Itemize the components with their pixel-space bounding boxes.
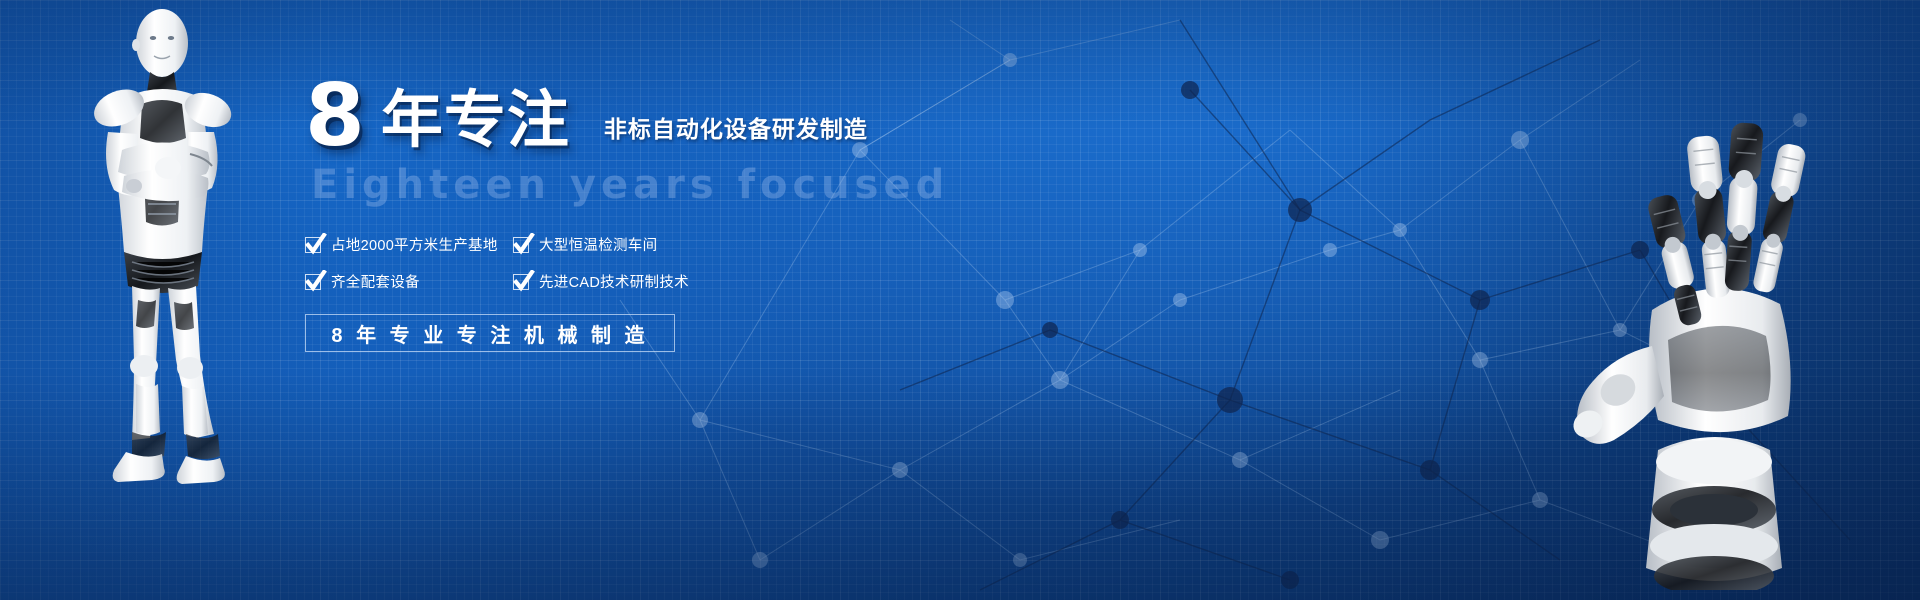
promotional-banner: 8 年专注 非标自动化设备研发制造 Eighteen years focused… xyxy=(0,0,1920,600)
cta-label: 8 年 专 业 专 注 机 械 制 造 xyxy=(331,319,648,348)
feature-label: 齐全配套设备 xyxy=(331,271,420,292)
banner-content: 8 年专注 非标自动化设备研发制造 Eighteen years focused… xyxy=(305,70,1065,352)
list-item: 占地2000平方米生产基地 xyxy=(305,234,513,255)
checkbox-checked-icon xyxy=(305,237,321,253)
headline-number: 8 xyxy=(305,77,363,156)
checkbox-checked-icon xyxy=(513,274,529,290)
list-item: 大型恒温检测车间 xyxy=(513,234,825,255)
humanoid-robot-figure xyxy=(64,0,264,490)
headline-cjk: 年专注 xyxy=(381,90,570,152)
headline-english: Eighteen years focused xyxy=(311,162,1065,208)
list-item: 齐全配套设备 xyxy=(305,271,513,292)
checkbox-checked-icon xyxy=(513,237,529,253)
checkbox-checked-icon xyxy=(305,274,321,290)
list-item: 先进CAD技术研制技术 xyxy=(513,271,825,292)
feature-label: 先进CAD技术研制技术 xyxy=(539,271,689,292)
feature-label: 大型恒温检测车间 xyxy=(539,234,657,255)
cta-banner[interactable]: 8 年 专 业 专 注 机 械 制 造 xyxy=(305,314,675,352)
headline-subtitle: 非标自动化设备研发制造 xyxy=(604,110,868,144)
feature-label: 占地2000平方米生产基地 xyxy=(331,234,498,255)
headline-row: 8 年专注 非标自动化设备研发制造 xyxy=(305,70,1065,156)
robotic-hand-figure xyxy=(1540,10,1900,590)
feature-list: 占地2000平方米生产基地 大型恒温检测车间 齐全配套设备 先进CAD技术研制技… xyxy=(305,234,825,292)
